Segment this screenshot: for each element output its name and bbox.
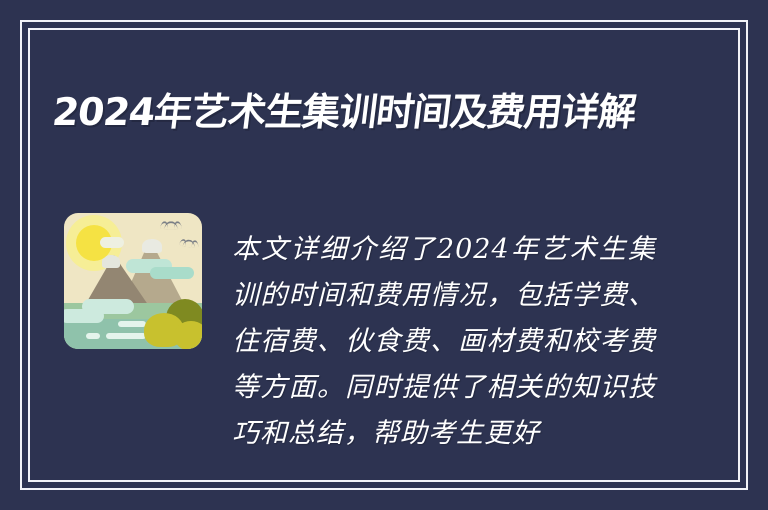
cloud-shape-top [100,237,124,248]
water-ripple-one [118,321,146,327]
water-ripple-three [106,333,146,339]
page-title: 2024年艺术生集训时间及费用详解 [49,85,688,139]
article-body: 本文详细介绍了2024年艺术生集训的时间和费用情况，包括学费、住宿费、伙食费、画… [52,200,662,470]
cloud-shape-left-lower [64,309,104,323]
bird-icon-two [183,239,196,248]
cloud-shape-right-lower [150,267,194,279]
bird-icon-one [164,221,177,230]
tree-icon-light-lower [174,321,202,349]
poster-canvas: 2024年艺术生集训时间及费用详解 [0,0,768,510]
landscape-illustration [64,213,202,349]
mountain-back-snowcap [142,239,162,253]
water-ripple-two [86,333,100,339]
article-thumbnail [52,205,210,357]
article-description: 本文详细介绍了2024年艺术生集训的时间和费用情况，包括学费、住宿费、伙食费、画… [232,227,656,457]
